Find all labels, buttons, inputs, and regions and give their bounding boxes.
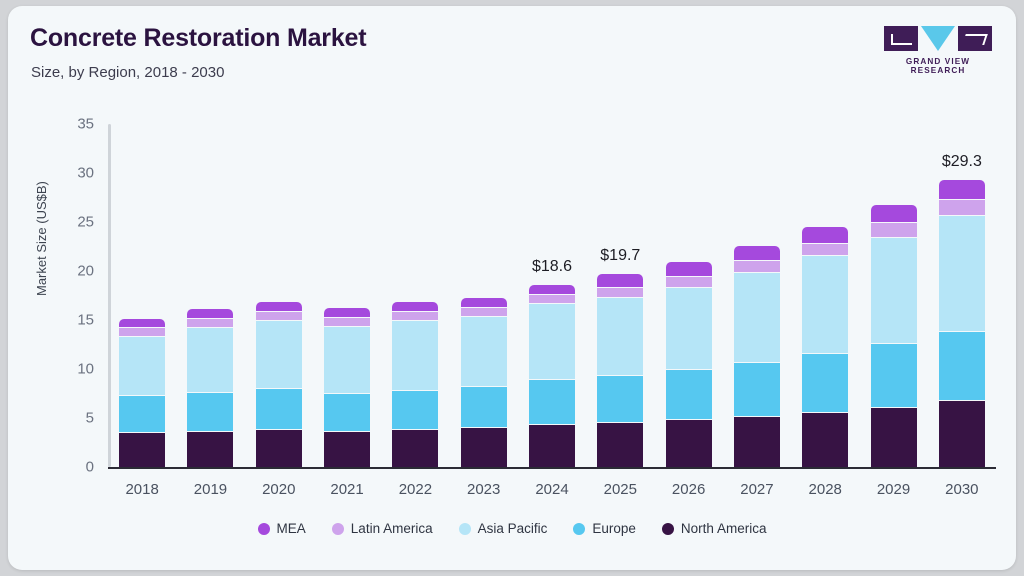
legend-label: North America [681, 521, 767, 536]
bar-segment-mea[interactable] [802, 227, 848, 243]
bar-group[interactable]: 2029 [871, 205, 917, 467]
bar-segment-north-america[interactable] [256, 429, 302, 467]
bar-stack [734, 246, 780, 467]
bar-group[interactable]: 2028 [802, 227, 848, 467]
bar-group[interactable]: $19.72025 [597, 274, 643, 467]
bar-segment-mea[interactable] [392, 302, 438, 311]
bar-stack [666, 262, 712, 467]
bar-segment-mea[interactable] [666, 262, 712, 276]
bar-segment-north-america[interactable] [461, 427, 507, 467]
legend-swatch-icon [662, 523, 674, 535]
bar-segment-europe[interactable] [529, 379, 575, 424]
bar-segment-asia-pacific[interactable] [939, 215, 985, 331]
bar-segment-europe[interactable] [666, 369, 712, 419]
bar-segment-asia-pacific[interactable] [802, 255, 848, 353]
bar-segment-europe[interactable] [256, 388, 302, 429]
x-axis-line [108, 467, 996, 469]
bar-stack [802, 227, 848, 467]
legend-item-asia-pacific[interactable]: Asia Pacific [459, 521, 548, 536]
bar-segment-asia-pacific[interactable] [187, 327, 233, 392]
bar-group[interactable]: 2019 [187, 309, 233, 467]
bar-segment-latin-america[interactable] [119, 327, 165, 336]
bar-stack [939, 180, 985, 467]
bar-group[interactable]: 2027 [734, 246, 780, 467]
x-axis-tick: 2023 [467, 481, 500, 498]
bar-segment-north-america[interactable] [187, 431, 233, 467]
x-axis-tick: 2027 [740, 481, 773, 498]
logo-triangle-icon [921, 26, 955, 51]
y-axis-tick: 0 [86, 459, 94, 476]
legend-item-mea[interactable]: MEA [258, 521, 306, 536]
bar-segment-mea[interactable] [939, 180, 985, 199]
bar-group[interactable]: 2022 [392, 302, 438, 467]
bar-group[interactable]: 2020 [256, 302, 302, 467]
x-axis-tick: 2028 [809, 481, 842, 498]
bar-group[interactable]: 2021 [324, 308, 370, 467]
y-axis-label: Market Size (US$B) [34, 181, 49, 296]
logo-block-right-icon [958, 26, 992, 51]
bar-segment-latin-america[interactable] [734, 260, 780, 272]
legend-swatch-icon [332, 523, 344, 535]
page-title: Concrete Restoration Market [30, 24, 366, 53]
y-axis-tick: 35 [77, 116, 94, 133]
bar-segment-europe[interactable] [597, 375, 643, 422]
x-axis-tick: 2019 [194, 481, 227, 498]
legend-swatch-icon [573, 523, 585, 535]
bar-segment-north-america[interactable] [324, 431, 370, 467]
bar-stack [256, 302, 302, 467]
x-axis-tick: 2022 [399, 481, 432, 498]
bar-segment-mea[interactable] [119, 319, 165, 327]
logo-mark [882, 26, 994, 52]
x-axis-tick: 2029 [877, 481, 910, 498]
legend-swatch-icon [258, 523, 270, 535]
bar-segment-europe[interactable] [461, 386, 507, 427]
x-axis-tick: 2020 [262, 481, 295, 498]
bar-group[interactable]: 2023 [461, 297, 507, 467]
x-axis-tick: 2026 [672, 481, 705, 498]
legend-label: Europe [592, 521, 636, 536]
bar-segment-mea[interactable] [187, 309, 233, 318]
y-axis-tick: 20 [77, 263, 94, 280]
bar-segment-north-america[interactable] [871, 407, 917, 467]
y-axis-tick: 30 [77, 165, 94, 182]
bar-segment-mea[interactable] [871, 205, 917, 222]
bar-segment-latin-america[interactable] [256, 311, 302, 320]
y-axis-tick: 15 [77, 312, 94, 329]
legend-label: Asia Pacific [478, 521, 548, 536]
bar-segment-latin-america[interactable] [187, 318, 233, 327]
bar-segment-latin-america[interactable] [461, 307, 507, 316]
bar-segment-mea[interactable] [597, 274, 643, 287]
bar-segment-asia-pacific[interactable] [871, 237, 917, 343]
bar-stack [187, 309, 233, 467]
bar-segment-europe[interactable] [392, 390, 438, 429]
bar-segment-mea[interactable] [256, 302, 302, 311]
legend-label: MEA [277, 521, 306, 536]
legend-item-europe[interactable]: Europe [573, 521, 636, 536]
bar-segment-asia-pacific[interactable] [392, 320, 438, 390]
bar-segment-asia-pacific[interactable] [597, 297, 643, 375]
bar-segment-latin-america[interactable] [666, 276, 712, 287]
bar-segment-latin-america[interactable] [529, 294, 575, 303]
bar-segment-north-america[interactable] [666, 419, 712, 467]
legend-swatch-icon [459, 523, 471, 535]
y-axis-tick: 5 [86, 410, 94, 427]
bar-segment-asia-pacific[interactable] [119, 336, 165, 395]
y-axis-tick: 10 [77, 361, 94, 378]
bar-stack [529, 285, 575, 467]
bar-segment-asia-pacific[interactable] [529, 303, 575, 379]
bar-value-label: $18.6 [532, 258, 572, 276]
bar-stack [324, 308, 370, 467]
bar-segment-mea[interactable] [324, 308, 370, 317]
chart-card: Concrete Restoration Market Size, by Reg… [8, 6, 1016, 570]
bar-group[interactable]: 2018 [119, 319, 165, 467]
bar-segment-asia-pacific[interactable] [461, 316, 507, 386]
y-axis-tick: 25 [77, 214, 94, 231]
bar-segment-north-america[interactable] [802, 412, 848, 467]
x-axis-tick: 2025 [604, 481, 637, 498]
bar-segment-latin-america[interactable] [392, 311, 438, 320]
bar-segment-europe[interactable] [871, 343, 917, 408]
bar-segment-mea[interactable] [529, 285, 575, 295]
bar-group[interactable]: $18.62024 [529, 285, 575, 467]
chart-legend: MEALatin AmericaAsia PacificEuropeNorth … [8, 521, 1016, 536]
legend-label: Latin America [351, 521, 433, 536]
bar-stack [597, 274, 643, 467]
grand-view-research-logo: GRAND VIEW RESEARCH [882, 26, 994, 70]
bar-value-label: $29.3 [942, 153, 982, 171]
bar-segment-europe[interactable] [324, 393, 370, 431]
bar-stack [871, 205, 917, 467]
bar-stack [392, 302, 438, 467]
bar-segment-mea[interactable] [734, 246, 780, 261]
bar-segment-latin-america[interactable] [939, 199, 985, 216]
bar-segment-latin-america[interactable] [324, 317, 370, 326]
bar-group[interactable]: 2026 [666, 262, 712, 467]
bar-group[interactable]: $29.32030 [939, 180, 985, 467]
bar-value-label: $19.7 [600, 247, 640, 265]
plot-area: 05101520253035201820192020202120222023$1… [108, 124, 996, 467]
bar-segment-north-america[interactable] [392, 429, 438, 467]
logo-block-left-icon [884, 26, 918, 51]
page-subtitle: Size, by Region, 2018 - 2030 [31, 64, 224, 81]
x-axis-tick: 2030 [945, 481, 978, 498]
bar-segment-north-america[interactable] [734, 416, 780, 467]
bar-segment-europe[interactable] [734, 362, 780, 416]
bar-segment-asia-pacific[interactable] [324, 326, 370, 393]
bar-segment-north-america[interactable] [529, 424, 575, 467]
bar-segment-mea[interactable] [461, 298, 507, 308]
bar-segment-europe[interactable] [802, 353, 848, 412]
x-axis-tick: 2018 [125, 481, 158, 498]
bar-segment-asia-pacific[interactable] [666, 287, 712, 369]
bar-segment-north-america[interactable] [597, 422, 643, 467]
bar-stack [119, 319, 165, 467]
x-axis-tick: 2021 [330, 481, 363, 498]
bar-segment-europe[interactable] [187, 392, 233, 431]
bar-segment-asia-pacific[interactable] [734, 272, 780, 362]
bar-segment-north-america[interactable] [939, 400, 985, 467]
logo-text: GRAND VIEW RESEARCH [882, 57, 994, 75]
legend-item-north-america[interactable]: North America [662, 521, 767, 536]
bar-segment-asia-pacific[interactable] [256, 320, 302, 388]
bar-segment-europe[interactable] [119, 395, 165, 432]
bar-segment-latin-america[interactable] [597, 287, 643, 297]
bar-segment-latin-america[interactable] [802, 243, 848, 256]
x-axis-tick: 2024 [535, 481, 568, 498]
bar-segment-north-america[interactable] [119, 432, 165, 467]
bar-stack [461, 297, 507, 467]
bar-segment-europe[interactable] [939, 331, 985, 401]
legend-item-latin-america[interactable]: Latin America [332, 521, 433, 536]
bar-segment-latin-america[interactable] [871, 222, 917, 237]
